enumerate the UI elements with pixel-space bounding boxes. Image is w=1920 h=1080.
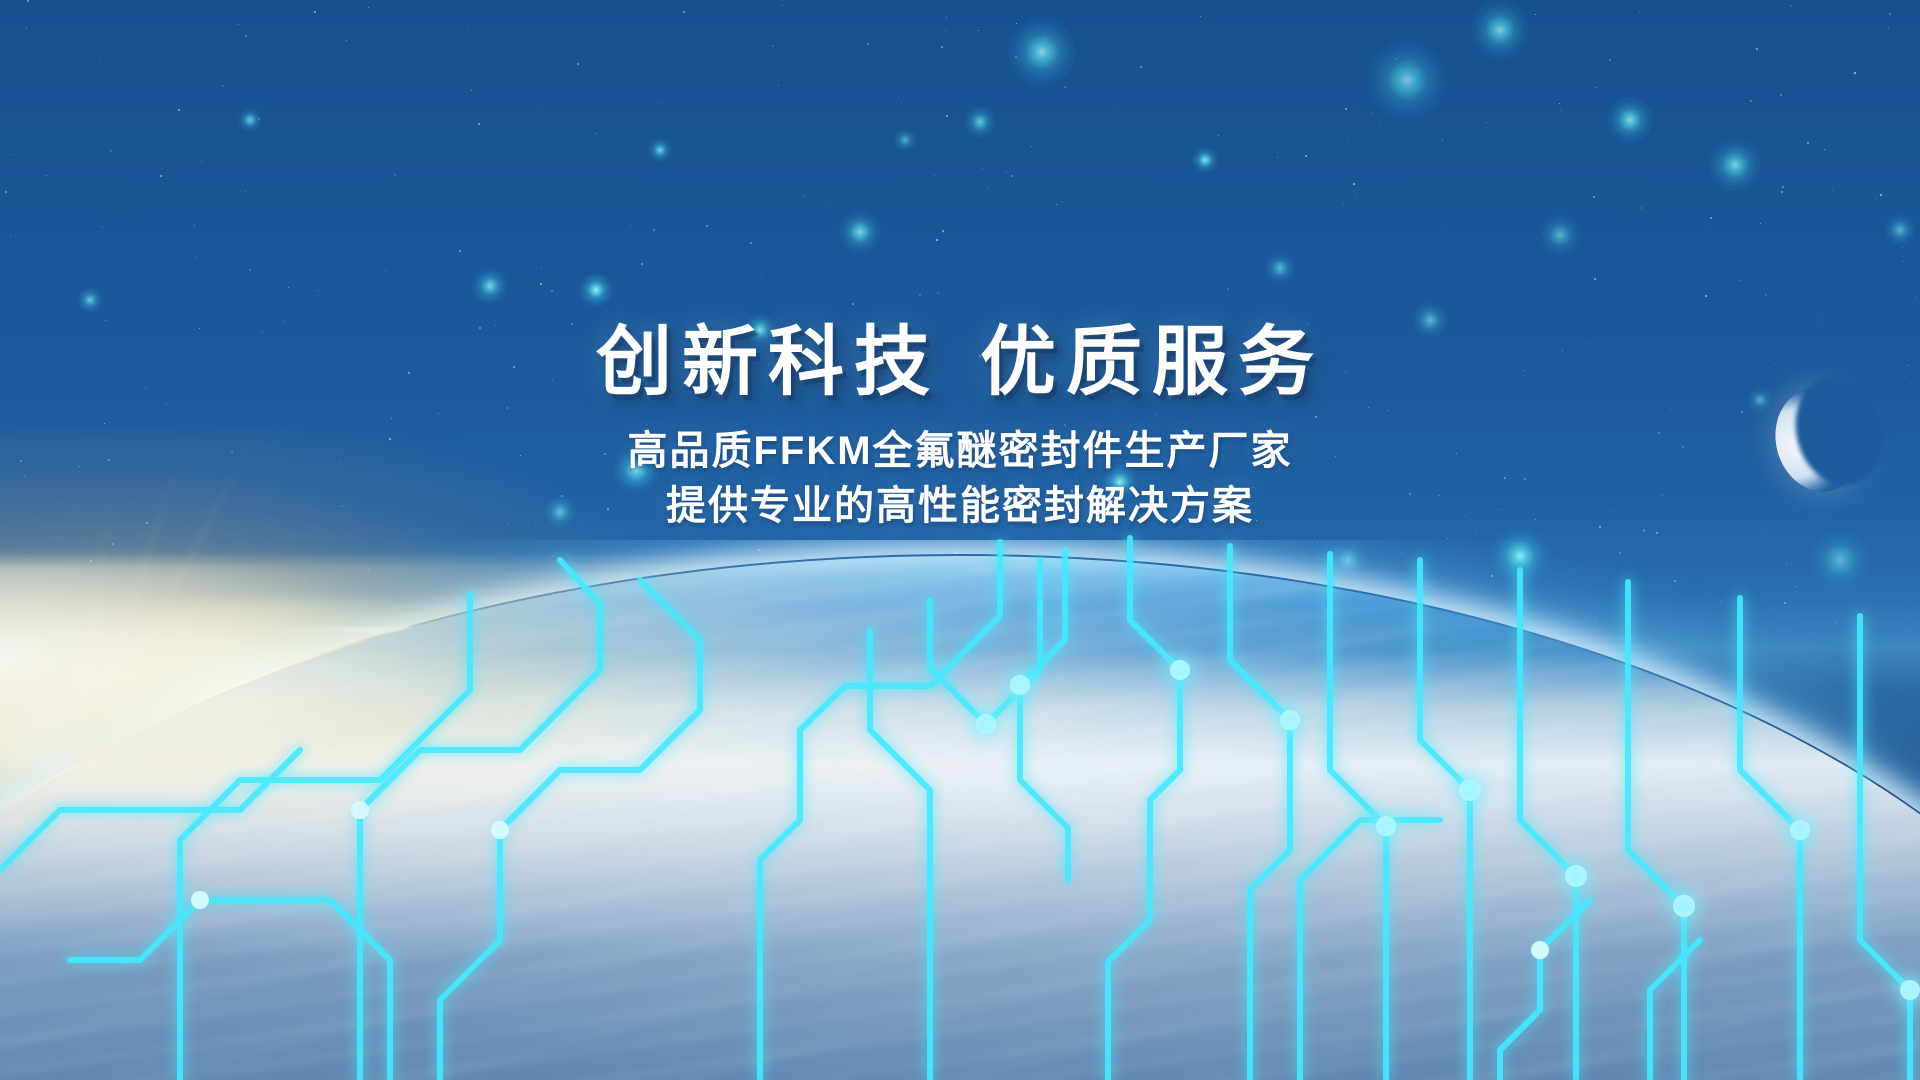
bokeh-orb [648,138,671,161]
headline-part-2: 优质服务 [980,320,1324,405]
bokeh-orb [1709,139,1761,191]
bokeh-orb [472,268,508,304]
hero-banner: 创新科技优质服务 高品质FFKM全氟醚密封件生产厂家 提供专业的高性能密封解决方… [0,0,1920,1080]
circuit-overlay [0,520,1920,1080]
headline-part-1: 创新科技 [596,320,940,405]
bokeh-orb [1368,41,1446,119]
bokeh-orb [893,128,916,151]
page-title: 创新科技优质服务 [0,322,1920,404]
banner-copy: 创新科技优质服务 高品质FFKM全氟醚密封件生产厂家 提供专业的高性能密封解决方… [0,322,1920,534]
bokeh-orb [238,108,261,131]
bokeh-orb [839,211,881,253]
circuit-traces [0,538,1910,1080]
banner-subtitle: 高品质FFKM全氟醚密封件生产厂家 提供专业的高性能密封解决方案 [0,424,1920,534]
bokeh-orb [1008,18,1076,86]
bokeh-orb [1192,147,1218,173]
bokeh-orb [1264,252,1295,283]
circuit-svg [0,520,1920,1080]
subtitle-line-2: 提供专业的高性能密封解决方案 [0,479,1920,534]
bokeh-orb [1471,1,1528,58]
bokeh-orb [1539,214,1581,256]
bokeh-orb [1884,214,1915,245]
bokeh-orb [964,106,995,137]
bokeh-orb [579,273,613,307]
subtitle-line-1: 高品质FFKM全氟醚密封件生产厂家 [0,424,1920,479]
bokeh-orb [77,287,103,313]
